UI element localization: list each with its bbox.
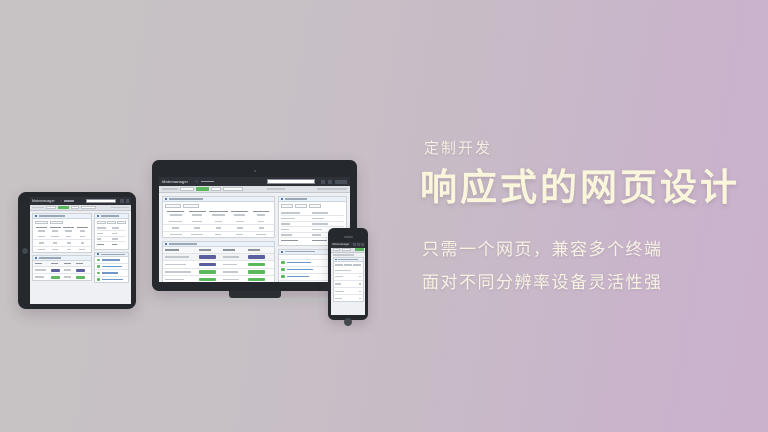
summary-panel <box>32 213 92 253</box>
subtitle-group: 只需一个网页，兼容多个终端 面对不同分辨率设备灵活性强 <box>418 233 758 299</box>
filter-dropdown[interactable] <box>333 248 340 251</box>
tab-overview[interactable] <box>335 264 343 267</box>
nav-menu-label[interactable] <box>201 181 214 183</box>
summary-panel <box>333 257 364 302</box>
marketing-copy: 定制开发 响应式的网页设计 只需一个网页，兼容多个终端 面对不同分辨率设备灵活性… <box>418 138 758 300</box>
grid-icon[interactable] <box>120 199 124 203</box>
breadcrumb <box>162 188 178 190</box>
app-window-desktop: Motemanager <box>159 177 350 282</box>
summary-cell <box>165 211 186 216</box>
breadcrumb <box>32 207 44 209</box>
nav-menu-icon[interactable] <box>60 200 63 203</box>
monitor-screen: Motemanager <box>159 177 350 282</box>
tab-overview[interactable] <box>165 204 181 208</box>
tab-more[interactable] <box>309 204 321 208</box>
summary-cell <box>208 211 229 216</box>
app-brand: Motemanager <box>162 177 188 186</box>
phone-frame: Motemanager <box>328 228 368 320</box>
table-row[interactable] <box>334 274 363 281</box>
app-body <box>159 193 350 282</box>
list-item[interactable] <box>95 277 128 283</box>
tablet-screen: Motemanager <box>30 197 131 304</box>
select-field[interactable] <box>81 206 96 210</box>
tab-strip <box>95 219 128 226</box>
tab-details[interactable] <box>183 204 199 208</box>
search-input[interactable] <box>86 199 116 204</box>
tab-details[interactable] <box>344 264 352 267</box>
tab-overview[interactable] <box>35 221 48 224</box>
search-input[interactable] <box>267 179 315 184</box>
tab-more[interactable] <box>353 264 361 267</box>
earpiece-speaker-icon <box>344 236 353 238</box>
toolbar-meta <box>267 188 285 190</box>
grid-icon[interactable] <box>321 180 325 184</box>
summary-panel <box>162 196 275 238</box>
activity-panel <box>94 252 129 284</box>
phone-screen: Motemanager <box>331 242 365 315</box>
tab-info[interactable] <box>281 204 293 208</box>
phone-device: Motemanager <box>328 228 368 320</box>
app-brand: Motemanager <box>333 242 350 248</box>
summary-grid <box>33 226 91 234</box>
grid-icon[interactable] <box>353 243 356 246</box>
table-row[interactable] <box>334 288 363 295</box>
toolbar-status <box>317 188 347 190</box>
table-row[interactable] <box>334 281 363 288</box>
monitor-frame: Motemanager <box>152 160 357 291</box>
app-body <box>30 211 131 285</box>
tab-more[interactable] <box>117 221 126 224</box>
summary-cell <box>229 211 250 216</box>
table-row[interactable] <box>33 267 91 274</box>
bell-icon[interactable] <box>328 180 332 184</box>
table-row[interactable] <box>163 269 274 277</box>
bell-icon[interactable] <box>126 199 130 203</box>
primary-action-button[interactable] <box>196 187 209 191</box>
info-panel <box>94 213 129 250</box>
page-title: 响应式的网页设计 <box>420 165 758 211</box>
tab-info[interactable] <box>97 221 106 224</box>
summary-cell <box>251 211 272 216</box>
tab-strip <box>279 202 346 210</box>
primary-action-button[interactable] <box>58 206 69 210</box>
side-column <box>94 213 129 283</box>
monitor-stand-base <box>175 298 335 302</box>
main-column <box>162 196 275 282</box>
app-window-mobile: Motemanager <box>331 242 365 315</box>
secondary-button[interactable] <box>71 206 79 210</box>
nav-menu-icon[interactable] <box>195 180 198 183</box>
desktop-monitor: Motemanager <box>152 160 357 302</box>
user-menu[interactable] <box>335 180 347 184</box>
device-mockup-group: Motemanager <box>0 0 410 432</box>
filter-dropdown[interactable] <box>46 206 56 210</box>
select-field[interactable] <box>223 187 243 191</box>
table-row <box>163 232 274 238</box>
home-button[interactable] <box>344 318 352 326</box>
tablet-frame: Motemanager <box>18 192 136 309</box>
tab-strip <box>163 202 274 210</box>
table-row[interactable] <box>163 276 274 282</box>
summary-grid <box>163 210 274 219</box>
secondary-button[interactable] <box>211 187 221 191</box>
webcam-icon <box>254 170 256 172</box>
definition-list <box>95 226 128 249</box>
monitor-stand-neck <box>229 291 281 298</box>
app-navbar: Motemanager <box>30 197 131 205</box>
select-field[interactable] <box>342 248 351 251</box>
table-row[interactable] <box>33 274 91 280</box>
main-column <box>32 213 92 283</box>
hamburger-menu-icon[interactable] <box>361 243 364 246</box>
progress-panel <box>162 241 275 282</box>
app-window-tablet: Motemanager <box>30 197 131 304</box>
toolbar-status <box>111 207 129 209</box>
panel-icon <box>165 198 167 200</box>
tab-details[interactable] <box>50 221 63 224</box>
home-button[interactable] <box>22 248 28 254</box>
progress-panel <box>32 255 92 281</box>
primary-action-button[interactable] <box>355 248 364 251</box>
app-toolbar <box>159 186 350 193</box>
eyebrow-text: 定制开发 <box>424 138 758 159</box>
tab-logs[interactable] <box>107 221 116 224</box>
app-brand: Motemanager <box>32 197 55 205</box>
table-row[interactable] <box>163 261 274 269</box>
subtitle-line-2: 面对不同分辨率设备灵活性强 <box>422 266 758 299</box>
subtitle-line-1: 只需一个网页，兼容多个终端 <box>422 233 758 266</box>
tab-strip <box>33 219 91 226</box>
tab-logs[interactable] <box>295 204 307 208</box>
filter-dropdown[interactable] <box>180 187 194 191</box>
table-row[interactable] <box>334 295 363 301</box>
summary-cell <box>186 211 207 216</box>
nav-menu-label[interactable] <box>64 200 74 202</box>
tablet-device: Motemanager <box>18 192 136 309</box>
panel-title <box>169 198 203 200</box>
bell-icon[interactable] <box>357 243 360 246</box>
app-navbar: Motemanager <box>159 177 350 186</box>
table-row[interactable] <box>163 254 274 262</box>
